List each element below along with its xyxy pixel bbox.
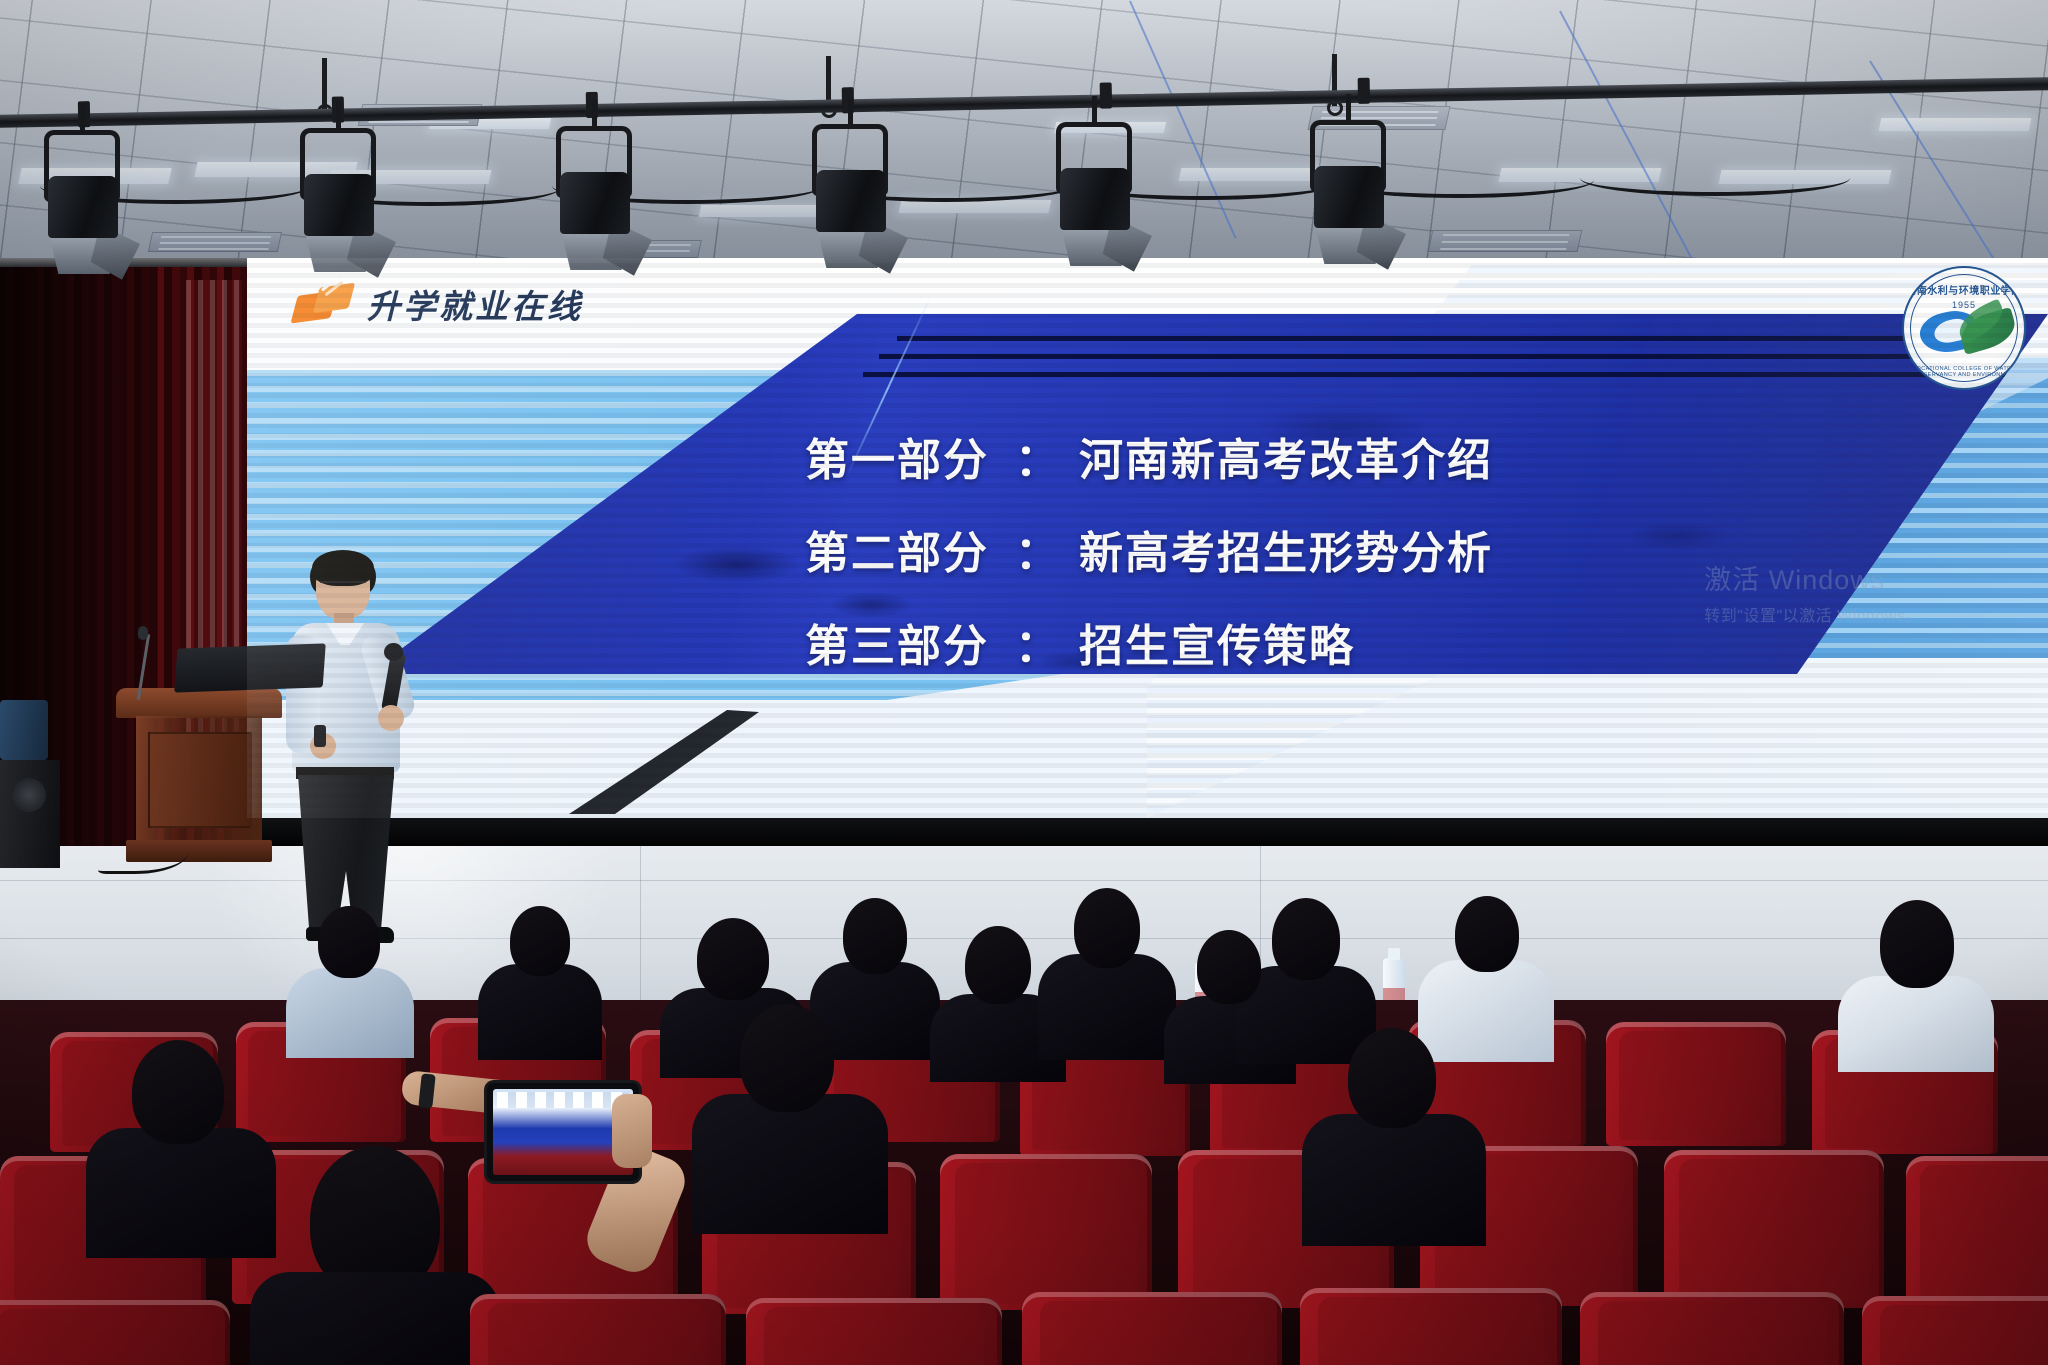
audience-seat — [1300, 1288, 1562, 1365]
presenter-glasses — [320, 581, 366, 591]
laptop — [174, 643, 326, 692]
side-stool — [0, 700, 48, 760]
audience-body — [1418, 960, 1554, 1062]
audience-body — [1302, 1114, 1486, 1246]
orange-books-pen-icon — [295, 281, 353, 327]
floor-speaker — [0, 760, 60, 868]
school-badge-name-en: VOCATIONAL COLLEGE OF WATER CONSERVANCY … — [1904, 366, 2024, 378]
outline-item-separator: ： — [1015, 424, 1061, 488]
brand-logo: 升学就业在线 — [295, 280, 583, 328]
audience-head — [1197, 930, 1261, 1004]
audience-head — [1272, 898, 1340, 980]
podium — [128, 688, 270, 866]
audience-body — [1838, 976, 1994, 1072]
windows-activation-watermark: 激活 Windows 转到"设置"以激活 Windows。 — [1704, 558, 1922, 626]
audience-seat — [1862, 1296, 2048, 1365]
audience-seat — [1022, 1292, 1282, 1365]
school-badge-name-cn: 河南水利与环境职业学院 — [1904, 282, 2024, 297]
outline-item-label: 第一部分 — [805, 424, 1015, 488]
audience-body — [692, 1094, 888, 1234]
audience-head — [697, 918, 769, 1000]
audience-head — [1348, 1028, 1436, 1128]
school-emblem-icon: 河南水利与环境职业学院 1955 VOCATIONAL COLLEGE OF W… — [1902, 266, 2026, 390]
audience-head — [843, 898, 907, 974]
audience-seat — [940, 1154, 1152, 1310]
presentation-clicker — [314, 725, 326, 747]
audience-seat — [1664, 1150, 1884, 1308]
watermark-title: 激活 Windows — [1704, 558, 1922, 597]
outline-item-label: 第三部分 — [805, 610, 1015, 674]
audience-seat — [1606, 1022, 1786, 1146]
audience-seat — [1580, 1292, 1844, 1365]
audience-seat — [470, 1294, 726, 1365]
audience-seat — [1906, 1156, 2048, 1312]
slide-outline-item: 第一部分 ： 河南新高考改革介绍 — [805, 424, 1493, 488]
audience-body — [478, 964, 602, 1060]
audience-body — [250, 1272, 500, 1365]
power-cable — [1580, 160, 1850, 196]
audience-head — [740, 1004, 834, 1112]
led-screen: 升学就业在线 河南水利与环境职业学院 1955 VOCATIONAL COLLE… — [247, 258, 2048, 850]
outline-item-title: 招生宣传策略 — [1079, 610, 1355, 674]
outline-item-separator: ： — [1015, 517, 1061, 581]
audience-body — [86, 1128, 276, 1258]
outline-item-label: 第二部分 — [805, 517, 1015, 581]
audience-body — [1038, 954, 1176, 1060]
slide-outline-item: 第二部分 ： 新高考招生形势分析 — [805, 517, 1493, 581]
slide-outline-item: 第三部分 ： 招生宣传策略 — [805, 610, 1493, 674]
outline-item-title: 新高考招生形势分析 — [1079, 517, 1493, 581]
audience-body — [286, 968, 414, 1058]
audience-head — [1074, 888, 1140, 968]
audience-head — [510, 906, 570, 976]
audience-head — [132, 1040, 224, 1144]
audience-head — [318, 906, 380, 978]
outline-item-title: 河南新高考改革介绍 — [1079, 424, 1493, 488]
truss-drop-rod — [322, 58, 327, 110]
brand-logo-text: 升学就业在线 — [367, 280, 583, 328]
audience-seat — [0, 1300, 230, 1365]
slide-outline-list: 第一部分 ： 河南新高考改革介绍 第二部分 ： 新高考招生形势分析 第三部分 ：… — [805, 424, 1493, 703]
slide-dark-accent-arrow — [559, 710, 759, 818]
auditorium-scene: 升学就业在线 河南水利与环境职业学院 1955 VOCATIONAL COLLE… — [0, 0, 2048, 1365]
presentation-slide: 升学就业在线 河南水利与环境职业学院 1955 VOCATIONAL COLLE… — [247, 258, 2048, 818]
presenter-hand-right — [378, 705, 404, 731]
outline-item-separator: ： — [1015, 610, 1061, 674]
audience-head — [965, 926, 1031, 1004]
watermark-subtitle: 转到"设置"以激活 Windows。 — [1704, 602, 1922, 626]
audience-head — [1455, 896, 1519, 972]
audience-seat — [746, 1298, 1002, 1365]
audience-head — [1880, 900, 1954, 988]
audience-hand — [612, 1094, 652, 1168]
